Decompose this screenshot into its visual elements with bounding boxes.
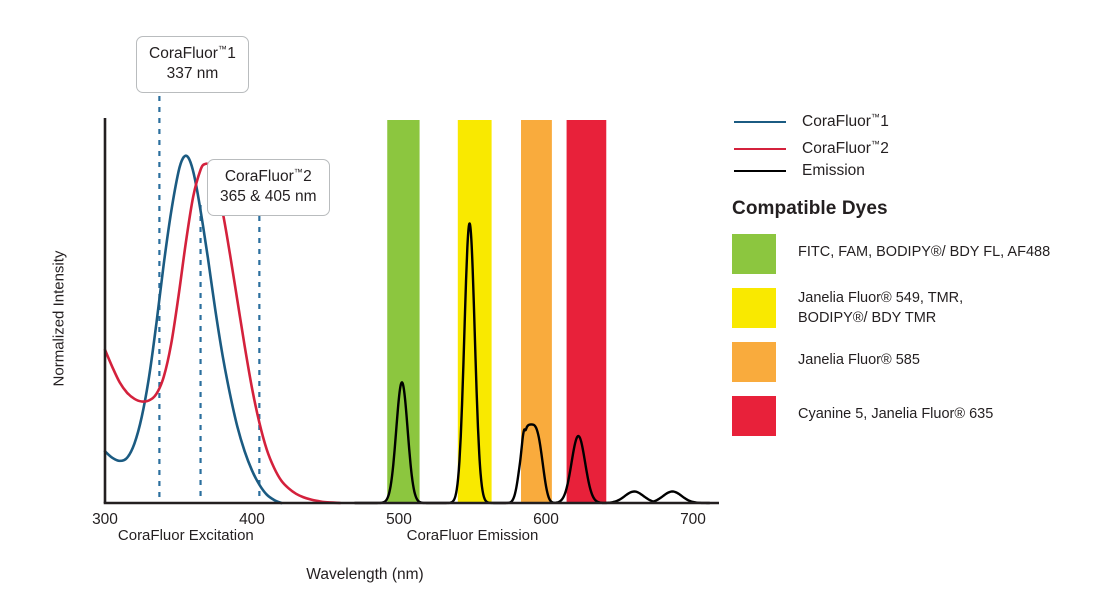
emission-band-3 <box>567 120 607 503</box>
excitation-region-label: CoraFluor Excitation <box>36 527 336 544</box>
callout-corafluor2-line2: 365 & 405 nm <box>220 187 317 207</box>
legend-line-label: CoraFluor™2 <box>802 139 889 158</box>
y-axis-label: Normalized Intensity <box>51 224 68 414</box>
legend-line-item-1: CoraFluor™1 <box>734 112 889 131</box>
dye-color-swatch <box>732 396 776 436</box>
emission-region-label: CoraFluor Emission <box>323 527 623 544</box>
legend-line-swatch <box>734 148 786 150</box>
dye-color-swatch <box>732 342 776 382</box>
dye-color-swatch <box>732 234 776 274</box>
dye-label: Cyanine 5, Janelia Fluor® 635 <box>798 396 993 425</box>
callout-corafluor1-line2: 337 nm <box>149 64 236 84</box>
chart-figure: CoraFluor™1 337 nm CoraFluor™2 365 & 405… <box>0 0 1110 612</box>
x-tick-label-700: 700 <box>663 511 723 529</box>
dye-row-1: FITC, FAM, BODIPY®/ BDY FL, AF488 <box>732 234 1050 274</box>
dye-label: FITC, FAM, BODIPY®/ BDY FL, AF488 <box>798 234 1050 263</box>
callout-corafluor2-line1: CoraFluor™2 <box>220 167 317 187</box>
dye-label: Janelia Fluor® 549, TMR,BODIPY®/ BDY TMR <box>798 288 963 328</box>
compatible-dyes-title: Compatible Dyes <box>732 198 888 220</box>
callout-corafluor1-line1: CoraFluor™1 <box>149 44 236 64</box>
dye-row-2: Janelia Fluor® 549, TMR,BODIPY®/ BDY TMR <box>732 288 963 328</box>
dye-label: Janelia Fluor® 585 <box>798 342 920 371</box>
legend-panel: CoraFluor™1CoraFluor™2Emission Compatibl… <box>730 0 1110 612</box>
dye-color-swatch <box>732 288 776 328</box>
callout-corafluor1: CoraFluor™1 337 nm <box>136 36 249 93</box>
plot-area: CoraFluor™1 337 nm CoraFluor™2 365 & 405… <box>0 0 730 612</box>
dye-row-3: Janelia Fluor® 585 <box>732 342 920 382</box>
legend-line-swatch <box>734 121 786 123</box>
x-axis-label: Wavelength (nm) <box>0 566 730 584</box>
legend-line-item-2: CoraFluor™2 <box>734 139 889 158</box>
callout-corafluor2: CoraFluor™2 365 & 405 nm <box>207 159 330 216</box>
legend-line-item-3: Emission <box>734 162 865 180</box>
legend-line-swatch <box>734 170 786 172</box>
dye-row-4: Cyanine 5, Janelia Fluor® 635 <box>732 396 993 436</box>
emission-band-2 <box>521 120 552 503</box>
legend-line-label: CoraFluor™1 <box>802 112 889 131</box>
emission-band-0 <box>387 120 419 503</box>
legend-line-label: Emission <box>802 162 865 180</box>
